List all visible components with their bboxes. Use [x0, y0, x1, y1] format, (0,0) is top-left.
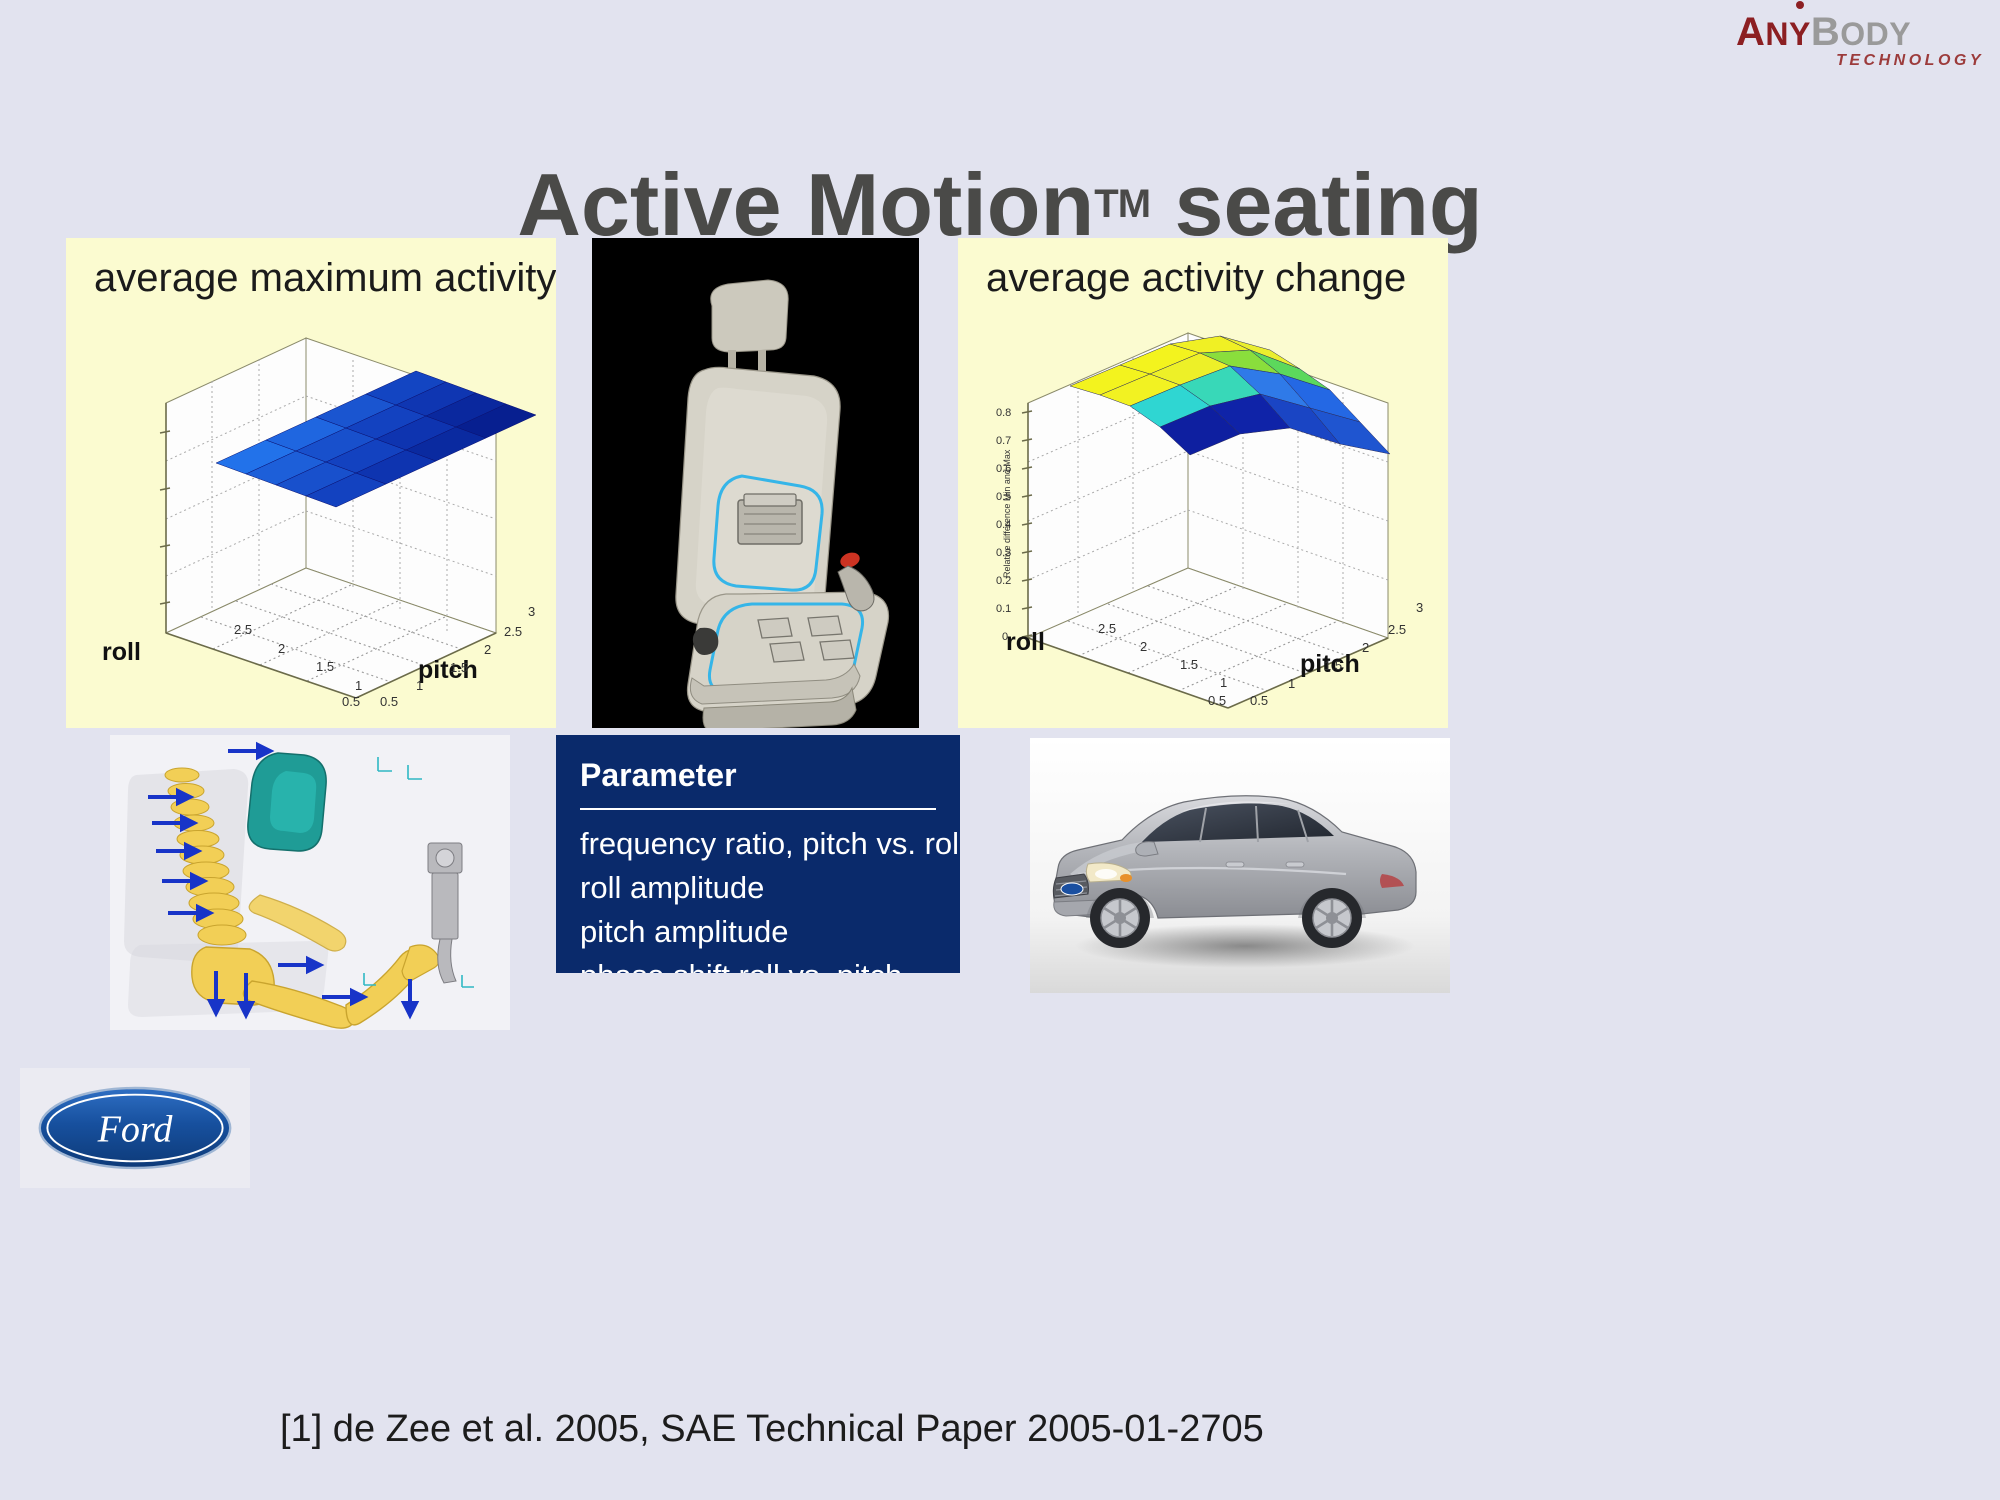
logo-body-text: BODY: [1811, 10, 1911, 54]
right-chart-xtick-4: 2.5: [1098, 621, 1116, 636]
right-chart-ytick-4: 2.5: [1388, 622, 1406, 637]
right-chart-ztick-3: 0.3: [996, 547, 1011, 559]
left-chart-ytick-4: 2.5: [504, 624, 522, 639]
right-chart-ztick-2: 0.2: [996, 575, 1011, 587]
left-chart-ytick-3: 2: [484, 642, 491, 657]
right-chart-ytick-1: 1: [1288, 676, 1295, 691]
right-chart-xtick-2: 1.5: [1180, 657, 1198, 672]
right-chart-ztick-5: 0.5: [996, 491, 1011, 503]
left-chart-ytick-2: 1.5: [450, 660, 468, 675]
logo-any-text: ANY: [1736, 10, 1811, 54]
logo-y-figure: Y: [1789, 10, 1811, 56]
left-chart-ytick-0: 0.5: [380, 694, 398, 709]
logo-wordmark: ANYBODY: [1736, 10, 1988, 56]
right-chart-xaxis-label: roll: [1006, 628, 1045, 657]
chart-average-activity-change: average activity change: [958, 238, 1448, 728]
left-chart-xtick-1: 2: [278, 641, 285, 656]
ford-oval-icon: Ford: [35, 1082, 235, 1174]
right-chart-ytick-2: 1.5: [1324, 658, 1342, 673]
ford-logo: Ford: [20, 1068, 250, 1188]
anybody-skeleton-illustration: [110, 735, 510, 1030]
right-chart-xtick-3: 2: [1140, 639, 1147, 654]
right-chart-ztick-7: 0.7: [996, 435, 1011, 447]
ford-wordmark: Ford: [97, 1108, 174, 1150]
anybody-technology-logo: ANYBODY TECHNOLOGY: [1736, 10, 1988, 82]
left-chart-xtick-0: 2.5: [234, 622, 252, 637]
right-chart-ytick-5: 3: [1416, 600, 1423, 615]
citation-reference: [1] de Zee et al. 2005, SAE Technical Pa…: [280, 1408, 1264, 1451]
right-chart-ytick-0: 0.5: [1250, 693, 1268, 708]
right-chart-ztick-1: 0.1: [996, 603, 1011, 615]
parameter-item-phase-shift: phase shift roll vs. pitch: [580, 954, 936, 973]
trademark-symbol: TM: [1094, 182, 1150, 226]
left-chart-yaxis-label: pitch: [418, 656, 478, 685]
right-chart-xtick-0: 0.5: [1208, 693, 1226, 708]
right-chart-ztick-8: 0.8: [996, 407, 1011, 419]
chart-average-maximum-activity: average maximum activity: [66, 238, 556, 728]
musculoskeletal-model-panel: [110, 735, 510, 1030]
silver-sedan-illustration: [1030, 738, 1450, 993]
right-chart-ztick-6: 0.6: [996, 463, 1011, 475]
right-chart-ytick-3: 2: [1362, 640, 1369, 655]
logo-person-head-icon: [1796, 1, 1804, 9]
right-chart-ztick-0: 0: [1002, 631, 1008, 643]
left-chart-ytick-1: 1: [416, 678, 423, 693]
left-chart-xaxis-label: roll: [102, 638, 141, 667]
right-chart-ztick-4: 0.4: [996, 519, 1011, 531]
car-photo-panel: [1030, 738, 1450, 993]
parameter-box: Parameter frequency ratio, pitch vs. rol…: [556, 735, 960, 973]
parameter-item-pitch-amplitude: pitch amplitude: [580, 910, 936, 954]
left-chart-xtick-2: 1.5: [316, 659, 334, 674]
left-chart-xtick-3: 1: [355, 678, 362, 693]
seat-photo-panel: [592, 238, 919, 728]
left-chart-ytick-5: 3: [528, 604, 535, 619]
right-chart-xtick-1: 1: [1220, 675, 1227, 690]
parameter-box-heading: Parameter: [580, 757, 936, 794]
parameter-item-frequency-ratio: frequency ratio, pitch vs. roll: [580, 822, 936, 866]
left-chart-xtick-4: 0.5: [342, 694, 360, 709]
parameter-item-roll-amplitude: roll amplitude: [580, 866, 936, 910]
parameter-box-divider: [580, 808, 936, 810]
car-seat-illustration: [592, 238, 919, 728]
